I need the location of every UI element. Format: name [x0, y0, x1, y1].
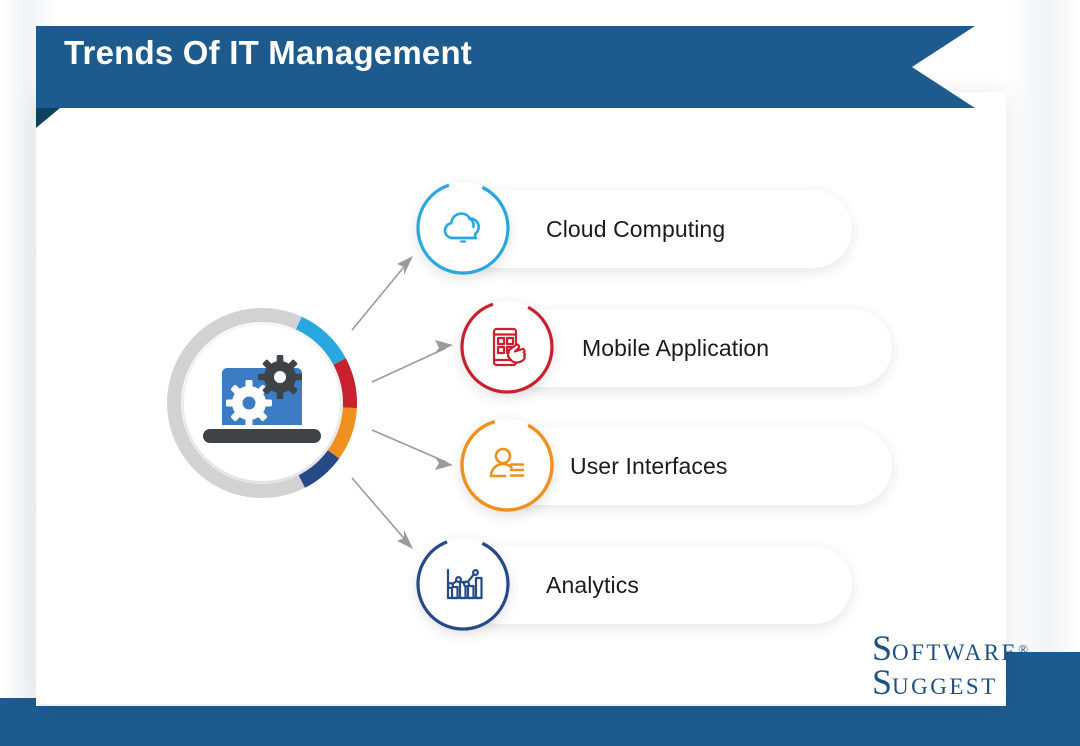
- logo-line-2: Suggest: [872, 665, 1028, 700]
- ring-mobile-icon: [458, 298, 556, 396]
- list-item-pill[interactable]: Analytics: [460, 546, 852, 624]
- list-item-pill[interactable]: Mobile Application: [500, 309, 892, 387]
- logo-line-1: Software®: [872, 631, 1028, 666]
- header-ribbon: Trends Of IT Management: [0, 0, 1080, 130]
- item-label-user-interfaces: User Interfaces: [570, 453, 727, 480]
- ring-user-icon: [458, 416, 556, 514]
- icon-circle-cloud[interactable]: [417, 182, 509, 274]
- icon-circle-mobile[interactable]: [461, 301, 553, 393]
- item-label-analytics: Analytics: [546, 572, 639, 599]
- infographic-canvas: Trends Of IT Management: [0, 0, 1080, 746]
- ring-cloud-icon: [414, 179, 512, 277]
- icon-circle-analytics[interactable]: [417, 538, 509, 630]
- ring-analytics-icon: [414, 535, 512, 633]
- brand-logo: Software® Suggest: [872, 631, 1028, 700]
- list-item-pill[interactable]: Cloud Computing: [460, 190, 852, 268]
- icon-circle-user[interactable]: [461, 419, 553, 511]
- center-hub: [162, 303, 362, 503]
- item-label-cloud-computing: Cloud Computing: [546, 216, 725, 243]
- item-label-mobile-application: Mobile Application: [582, 335, 769, 362]
- page-title: Trends Of IT Management: [64, 34, 472, 72]
